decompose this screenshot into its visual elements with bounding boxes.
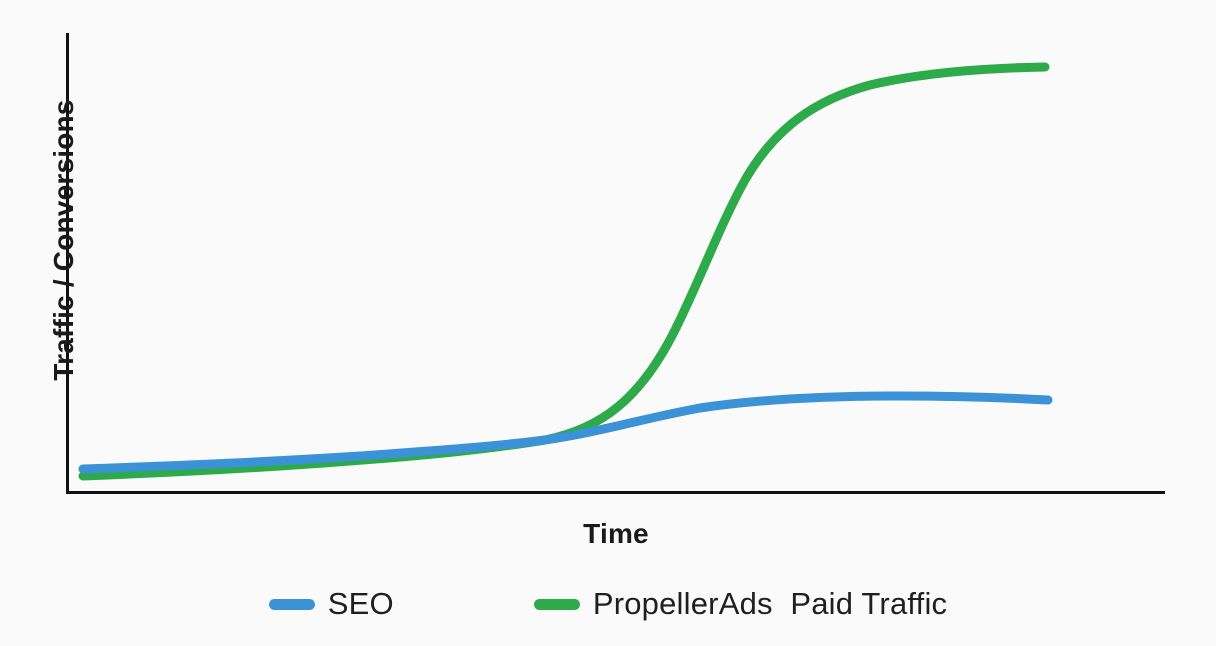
legend-item-seo[interactable]: SEO	[269, 586, 394, 622]
chart-container: Traffic / Conversions Time SEO Propeller…	[0, 0, 1216, 646]
legend-swatch-propellerads-paid-traffic	[534, 599, 580, 610]
legend-swatch-seo	[269, 599, 315, 610]
legend-item-propellerads-paid-traffic[interactable]: PropellerAds Paid Traffic	[534, 586, 947, 622]
y-axis-label: Traffic / Conversions	[32, 0, 96, 490]
series-line-propellerads-paid-traffic	[83, 67, 1045, 476]
chart-legend: SEO PropellerAds Paid Traffic	[0, 586, 1216, 622]
legend-label-propellerads-paid-traffic: PropellerAds Paid Traffic	[593, 586, 947, 622]
x-axis-label: Time	[66, 518, 1166, 550]
series-line-seo	[83, 396, 1048, 469]
legend-label-seo: SEO	[328, 586, 394, 622]
